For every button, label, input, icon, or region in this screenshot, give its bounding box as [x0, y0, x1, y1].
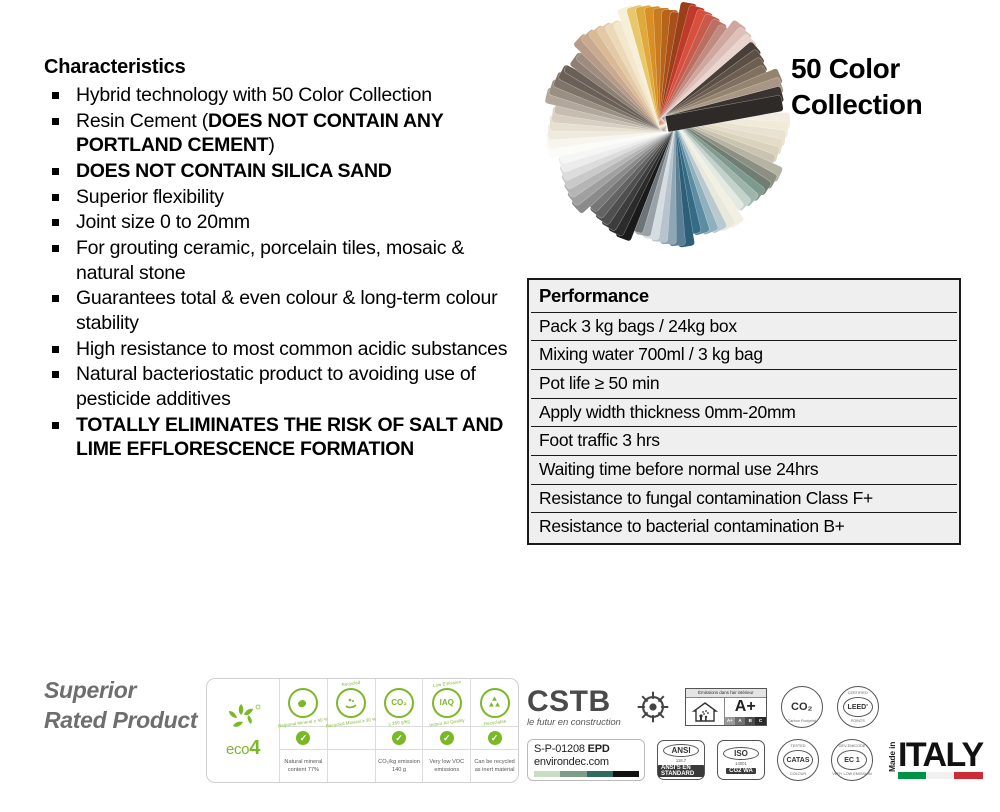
indoor-air-emissions-label: Émissions dans l'air intérieur A+ A+ — [685, 688, 767, 726]
flag-red — [954, 772, 982, 779]
characteristics-section: Characteristics Hybrid technology with 5… — [44, 56, 514, 463]
bullet-square-icon — [52, 92, 59, 99]
superior-rated-product-label: Superior Rated Product — [44, 676, 204, 736]
check-cell: ✓ — [376, 727, 423, 750]
table-row: Resistance to fungal contamination Class… — [531, 485, 957, 514]
seal-sub: 118.7 — [676, 758, 686, 763]
seal-center: CO₂ — [791, 701, 812, 713]
seal-bottom-text: VERY LOW EMISSION — [832, 772, 872, 776]
list-item-label: High resistance to most common acidic su… — [76, 338, 507, 360]
table-row: Apply width thickness 0mm-20mm — [531, 399, 957, 428]
eco-column-text: CO₂/kg emission 140 g — [376, 750, 423, 782]
list-item-label: Joint size 0 to 20mm — [76, 211, 250, 233]
seal-bottom-text: COLOUR — [778, 772, 818, 776]
icon-caption-top: Recycled — [342, 680, 361, 688]
color-fan-image — [545, 2, 789, 246]
list-item-label: Hybrid technology with 50 Color Collecti… — [76, 84, 432, 106]
iaq-ring-icon: Low Emission IAQ Indoor Air Quality — [423, 679, 470, 727]
eco4-certification-panel: eco4 Regional Mineral ≥ 40 % ✓ Natural m… — [206, 678, 519, 783]
seal-sub: 14001 — [735, 761, 747, 766]
eco-column-text: Can be recycled as inert material — [471, 750, 518, 782]
aplus-grade-area: A+ A+ A B C — [725, 698, 766, 725]
table-row: Foot traffic 3 hrs — [531, 427, 957, 456]
seal-bottom-text: POINTS — [838, 719, 878, 723]
seal-center: ANSI — [663, 744, 699, 757]
epd-site: environdec.com — [534, 756, 639, 769]
made-in-label: Made in — [887, 741, 897, 776]
characteristics-title: Characteristics — [44, 56, 514, 79]
list-item: High resistance to most common acidic su… — [44, 337, 514, 362]
aplus-caption: Émissions dans l'air intérieur — [686, 689, 766, 698]
eco-column-co2: CO₂ ≤ 250 g/kg ✓ CO₂/kg emission 140 g — [376, 679, 424, 782]
table-header: Performance — [531, 282, 957, 313]
list-item: Hybrid technology with 50 Color Collecti… — [44, 83, 514, 108]
house-icon — [686, 698, 725, 725]
table-row: Resistance to bacterial contamination B+ — [531, 513, 957, 541]
table-row: Pot life ≥ 50 min — [531, 370, 957, 399]
list-item-label: Superior flexibility — [76, 186, 224, 208]
globe-ring-icon: Regional Mineral ≥ 40 % — [280, 679, 327, 727]
table-row: Pack 3 kg bags / 24kg box — [531, 313, 957, 342]
eco4-wordmark: eco4 — [226, 737, 260, 760]
icon-caption: Regional Mineral ≥ 40 % — [278, 717, 328, 729]
eco-column-text: Very low VOC emissions — [423, 750, 470, 782]
scale-step: C — [755, 717, 765, 725]
eco-column-text — [328, 750, 375, 782]
eco-column-iaq: Low Emission IAQ Indoor Air Quality ✓ Ve… — [423, 679, 471, 782]
seal-caption: Carbon Footprint — [782, 719, 822, 723]
eco-column-recycled-mineral: Recycled Recycled Mineral ≥ 30 % — [328, 679, 376, 782]
italy-wordmark: ITALY — [898, 741, 983, 771]
eco4-logo: eco4 — [207, 679, 280, 782]
aplus-body: A+ A+ A B C — [686, 698, 766, 725]
certification-row-bottom: S-P-01208 EPD environdec.com ANSI 118.7 … — [527, 735, 997, 785]
list-item-label: Guarantees total & even colour & long-te… — [76, 287, 497, 334]
certification-logos: CSTB le futur en construction Émissions … — [527, 681, 997, 786]
ship-wheel-icon — [635, 689, 671, 725]
aplus-grade: A+ — [725, 698, 766, 717]
bar-seg — [534, 771, 560, 777]
check-icon: ✓ — [488, 731, 502, 745]
list-item: TOTALLY ELIMINATES THE RISK OF SALT AND … — [44, 413, 514, 462]
list-item: Resin Cement (DOES NOT CONTAIN ANY PORTL… — [44, 109, 514, 158]
epd-color-bar — [534, 771, 639, 777]
epd-badge: S-P-01208 EPD environdec.com — [527, 739, 645, 781]
seal-center: EC 1 — [837, 750, 867, 770]
seal-bar: ANSI'S EN STANDARD — [658, 765, 704, 777]
epd-code-line: S-P-01208 EPD — [534, 743, 639, 756]
flag-white — [926, 772, 954, 779]
list-item-label: DOES NOT CONTAIN SILICA SAND — [76, 160, 392, 182]
bullet-square-icon — [52, 118, 59, 125]
made-in-italy-logo: Made in ITALY — [887, 741, 983, 780]
icon-caption: Recyclable — [483, 718, 506, 726]
check-cell — [328, 727, 375, 750]
cstb-wordmark: CSTB — [527, 687, 621, 717]
co2-ring-icon: CO₂ ≤ 250 g/kg — [376, 679, 423, 727]
list-item: DOES NOT CONTAIN SILICA SAND — [44, 159, 514, 184]
certification-row-top: CSTB le futur en construction Émissions … — [527, 681, 997, 733]
seal-bar: CG2 WA — [726, 768, 756, 774]
performance-table: Performance Pack 3 kg bags / 24kg box Mi… — [527, 278, 961, 545]
check-cell: ✓ — [280, 727, 327, 750]
icon-caption: Recycled Mineral ≥ 30 % — [326, 716, 377, 728]
bullet-square-icon — [52, 219, 59, 226]
scale-step: A+ — [725, 717, 735, 725]
page-title: 50 Color Collection — [791, 51, 996, 122]
icon-caption: Indoor Air Quality — [429, 718, 465, 728]
italian-flag-icon — [898, 772, 983, 779]
seal-top-text: CERTIFIED — [838, 691, 878, 695]
bullet-square-icon — [52, 371, 59, 378]
check-cell: ✓ — [423, 727, 470, 750]
seal-top-text: TESTED — [778, 744, 818, 748]
cstb-logo: CSTB le futur en construction — [527, 687, 621, 728]
check-icon: ✓ — [296, 731, 310, 745]
bullet-square-icon — [52, 194, 59, 201]
cstb-tagline: le futur en construction — [527, 718, 621, 728]
list-item-label: For grouting ceramic, porcelain tiles, m… — [76, 237, 464, 284]
ansi-seal: ANSI 118.7 ANSI'S EN STANDARD — [657, 740, 705, 780]
recycle-triangle-icon — [486, 694, 503, 711]
flag-green — [898, 772, 926, 779]
catas-seal: TESTED CATAS COLOUR — [777, 739, 819, 781]
scale-step: A — [735, 717, 745, 725]
characteristics-list: Hybrid technology with 50 Color Collecti… — [44, 83, 514, 462]
bullet-square-icon — [52, 168, 59, 175]
seal-center: LEED' — [843, 697, 873, 717]
eco4-leaf-icon — [223, 702, 263, 736]
check-icon: ✓ — [392, 731, 406, 745]
bar-seg — [587, 771, 613, 777]
list-item: Joint size 0 to 20mm — [44, 210, 514, 235]
table-row: Waiting time before normal use 24hrs — [531, 456, 957, 485]
scale-step: B — [745, 717, 755, 725]
carbon-footprint-seal: Carbon Footprint CO₂ — [781, 686, 823, 728]
bar-seg — [613, 771, 639, 777]
list-item: Guarantees total & even colour & long-te… — [44, 286, 514, 335]
italy-block: ITALY — [898, 741, 983, 780]
list-item: Superior flexibility — [44, 185, 514, 210]
eco-column-regional-mineral: Regional Mineral ≥ 40 % ✓ Natural minera… — [280, 679, 328, 782]
icon-caption: ≤ 250 g/kg — [388, 719, 410, 727]
check-icon: ✓ — [440, 731, 454, 745]
ring-shape — [336, 688, 366, 718]
ec1-seal: GEV-EMICODE EC 1 VERY LOW EMISSION — [831, 739, 873, 781]
seal-center: CATAS — [783, 750, 813, 770]
list-item: Natural bacteriostatic product to avoidi… — [44, 362, 514, 411]
ring-shape — [288, 688, 318, 718]
ring-shape: CO₂ — [384, 688, 414, 718]
bullet-square-icon — [52, 245, 59, 252]
list-item: For grouting ceramic, porcelain tiles, m… — [44, 236, 514, 285]
recycled-hand-icon: Recycled Recycled Mineral ≥ 30 % — [328, 679, 375, 727]
aplus-scale: A+ A B C — [725, 717, 766, 725]
list-item-label: Resin Cement (DOES NOT CONTAIN ANY PORTL… — [76, 110, 443, 157]
recyclable-ring-icon: Recyclable — [471, 679, 518, 727]
ring-shape: IAQ — [432, 688, 462, 718]
table-row: Mixing water 700ml / 3 kg bag — [531, 341, 957, 370]
leed-seal: CERTIFIED LEED' POINTS — [837, 686, 879, 728]
check-cell: ✓ — [471, 727, 518, 750]
ring-shape — [480, 688, 510, 718]
icon-caption-top: Low Emission — [432, 679, 461, 688]
iso-seal: ISO 14001 CG2 WA — [717, 740, 765, 780]
list-item-label: TOTALLY ELIMINATES THE RISK OF SALT AND … — [76, 414, 503, 461]
eco-column-text: Natural mineral content 77% — [280, 750, 327, 782]
bullet-square-icon — [52, 346, 59, 353]
seal-top-text: GEV-EMICODE — [832, 744, 872, 748]
list-item-label: Natural bacteriostatic product to avoidi… — [76, 363, 476, 410]
seal-center: ISO — [723, 747, 759, 760]
bar-seg — [560, 771, 586, 777]
eco-column-recyclable: Recyclable ✓ Can be recycled as inert ma… — [471, 679, 518, 782]
color-swatch-fan — [545, 2, 789, 246]
bullet-square-icon — [52, 295, 59, 302]
bullet-square-icon — [52, 422, 59, 429]
